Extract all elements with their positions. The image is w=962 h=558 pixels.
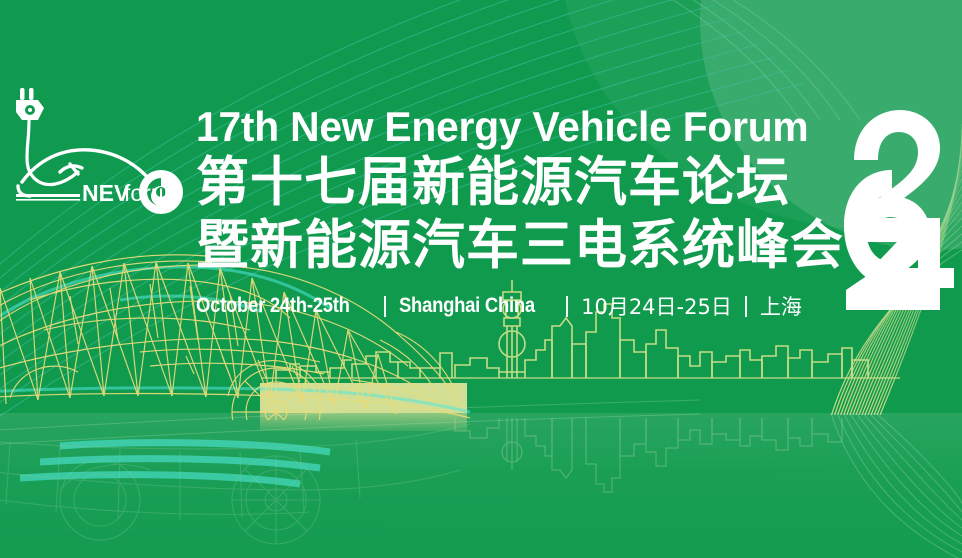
logo-rule-2: [16, 199, 80, 201]
title-chinese-line1: 第十七届新能源汽车论坛: [196, 152, 836, 214]
subtitle-separator-2: [566, 296, 568, 317]
subtitle-date-cn: 10月24日-25日: [581, 291, 732, 321]
accent-bar: [260, 383, 467, 413]
logo-wordmark-light: forum: [124, 180, 183, 206]
logo-rule: [16, 194, 80, 197]
year-2024-graphic: [842, 108, 962, 313]
subtitle-row: October 24th-25th Shanghai China 10月24日-…: [196, 291, 836, 321]
title-block: 17th New Energy Vehicle Forum 第十七届新能源汽车论…: [196, 104, 836, 321]
subtitle-separator-1: [384, 296, 386, 317]
title-chinese-line2: 暨新能源汽车三电系统峰会: [196, 215, 836, 277]
charging-plug-icon: [16, 88, 44, 120]
event-banner: NEV forum 17th New Energy Vehicle Forum …: [0, 0, 962, 558]
nevforum-logo[interactable]: NEV forum: [4, 74, 196, 220]
water-reflection-band: [0, 413, 962, 558]
subtitle-separator-3: [745, 296, 747, 317]
logo-wordmark-bold: NEV: [82, 180, 130, 206]
accent-bar-reflection: [260, 413, 467, 431]
subtitle-date-en: October 24th-25th: [196, 294, 350, 318]
title-english: 17th New Energy Vehicle Forum: [196, 104, 817, 150]
subtitle-location-cn: 上海: [760, 291, 802, 321]
subtitle-location-en: Shanghai China: [399, 294, 535, 318]
